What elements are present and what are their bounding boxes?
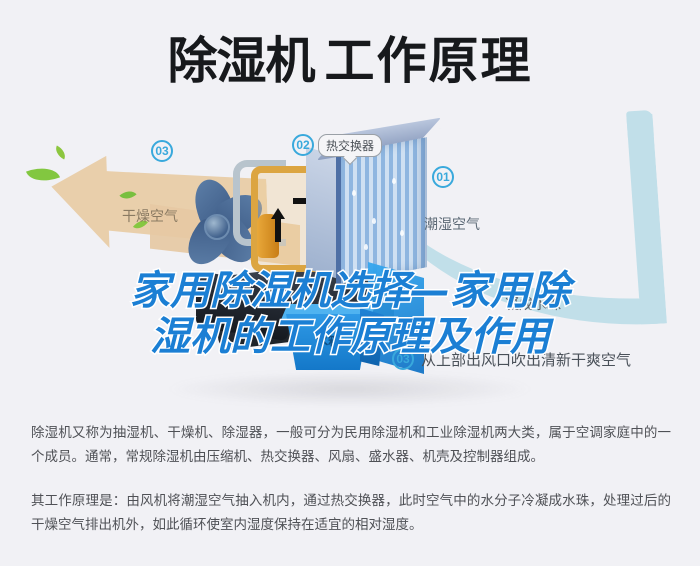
water-tank-label: 水箱 [286, 332, 370, 349]
step-badge-02: 02 [292, 134, 314, 156]
water-droplet-icon [400, 230, 404, 236]
water-droplet-icon [352, 190, 356, 196]
label-dry-air: 干燥空气 [122, 206, 178, 226]
bottom-note-text: 从上部出风口吹出清新干爽空气 [421, 349, 631, 370]
article-body: 除湿机又称为抽湿机、干燥机、除湿器，一般可分为民用除湿机和工业除湿机两大类，属于… [31, 421, 671, 537]
flow-arrow-up [275, 218, 281, 242]
water-droplet-icon [372, 218, 376, 224]
leaf-icon [26, 161, 60, 187]
coil-side-panel [306, 146, 340, 279]
hero-title-part2: 工作原理 [325, 32, 533, 90]
hero-title-part1: 除湿机 [168, 32, 315, 90]
paragraph-2: 其工作原理是：由风机将潮湿空气抽入机内，通过热交换器，此时空气中的水分子冷凝成水… [31, 489, 671, 537]
leaf-icon [53, 145, 69, 159]
step-badge-01: 01 [432, 166, 454, 188]
bottom-note: 03 从上部出风口吹出清新干爽空气 [392, 348, 631, 370]
diagram-stage: 水箱 03 干燥空气 02 热交换器 01 潮湿空气 凝成水珠 03 从上部出风… [0, 118, 700, 408]
infographic-hero: 除湿机工作原理 [0, 0, 700, 408]
water-droplet-icon [392, 178, 396, 184]
label-condensation: 凝成水珠 [505, 294, 561, 314]
step-badge-03-bottom: 03 [392, 348, 414, 370]
step-badge-03: 03 [151, 140, 173, 162]
paragraph-1: 除湿机又称为抽湿机、干燥机、除湿器，一般可分为民用除湿机和工业除湿机两大类，属于… [31, 421, 671, 469]
flow-arrow-up-head [271, 208, 285, 219]
hero-reflection [170, 372, 530, 406]
hero-title: 除湿机工作原理 [0, 30, 700, 92]
label-humid-air: 潮湿空气 [424, 214, 480, 234]
callout-heat-exchanger: 热交换器 [318, 134, 382, 157]
water-droplet-icon [364, 244, 368, 250]
fan-hub [204, 214, 230, 240]
